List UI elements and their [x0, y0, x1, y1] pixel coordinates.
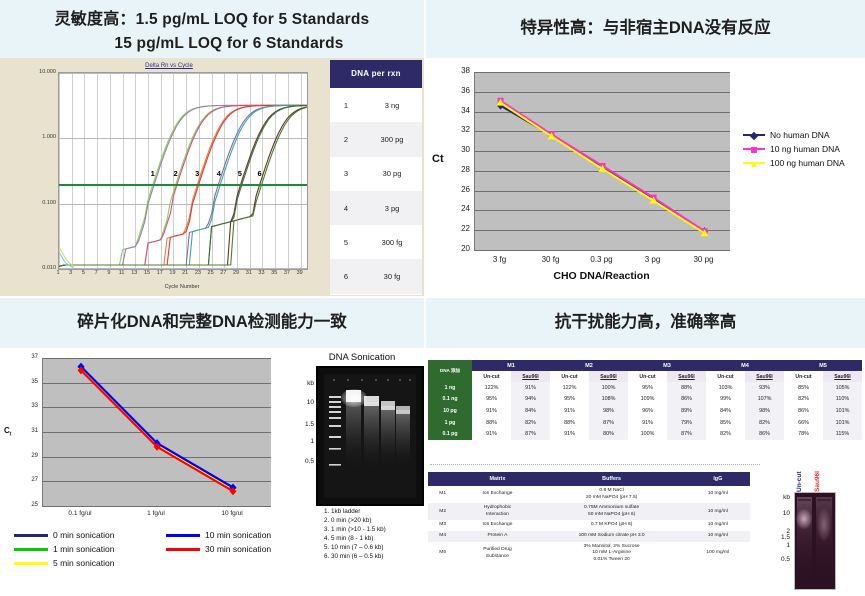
dna-table-row: 13 ng [330, 88, 422, 122]
amplification-x-tick: 35 [269, 270, 279, 276]
amplification-plot-title: Delta Rn vs Cycle [14, 63, 324, 69]
specificity-y-tick: 22 [448, 224, 470, 233]
recovery-table-row: 1 pg88%82%88%87%91%79%85%82%66%101% [428, 417, 862, 429]
recovery-table: DNA 添加M1M2M3M4M5Un-cutSau96IUn-cutSau96I… [428, 360, 862, 440]
dna-per-rxn-table: DNA per rxn 13 ng2300 pg330 pg43 pg5300 … [330, 60, 422, 295]
gel-lane-label: Sau96I [814, 462, 821, 492]
recovery-table-row: 0.1 ng95%94%95%108%109%86%99%107%82%110% [428, 394, 862, 406]
specificity-gridline [475, 250, 730, 251]
matrix-igg-cell: 10 mg/ml [686, 503, 750, 520]
recovery-cell: 91% [472, 428, 511, 440]
recovery-sub-header: Un-cut [784, 371, 823, 382]
interference-heading: 抗干扰能力高，准确率高 [555, 311, 737, 335]
amplification-curve-number: 6 [257, 169, 261, 178]
recovery-matrix-header: M2 [550, 360, 628, 371]
legend-item: 30 min sonication [166, 544, 316, 554]
dna-table-row: 2300 pg [330, 122, 422, 156]
recovery-cell: 105% [823, 382, 862, 394]
dna-table-header: DNA per rxn [330, 60, 422, 88]
recovery-cell: 95% [628, 382, 667, 394]
specificity-legend: No human DNA10 ng human DNA100 ng human … [743, 130, 845, 172]
digest-gel-panel: Un-cutSau96I kb1021.510.5 [770, 462, 862, 592]
specificity-x-tick: 30 fg [525, 255, 577, 264]
fragmentation-series-line [81, 369, 233, 490]
legend-swatch [14, 548, 48, 551]
matrix-name-cell: Purified DrugSubstance [457, 542, 537, 566]
dna-row-value: 3 pg [362, 204, 422, 213]
gel-kb-label: 1 [772, 542, 790, 549]
legend-item: 10 min sonication [166, 530, 316, 540]
recovery-cell: 103% [706, 382, 745, 394]
recovery-cell: 91% [511, 382, 550, 394]
dna-table-row: 330 pg [330, 157, 422, 191]
recovery-sub-header: Un-cut [472, 371, 511, 382]
recovery-cell: 101% [823, 417, 862, 429]
amplification-plot-area [58, 72, 308, 270]
fragmentation-heading: 碎片化DNA和完整DNA检测能力一致 [77, 311, 347, 335]
amplification-x-tick: 1 [53, 270, 63, 276]
amplification-x-tick: 31 [244, 270, 254, 276]
matrix-name-cell: Ion Exchange [457, 520, 537, 531]
specificity-y-tick: 30 [448, 145, 470, 154]
recovery-sub-header: Sau96I [589, 371, 628, 382]
recovery-cell: 98% [589, 405, 628, 417]
recovery-cell: 80% [589, 428, 628, 440]
amplification-curves [59, 73, 307, 269]
legend-item: 100 ng human DNA [743, 158, 845, 168]
recovery-cell: 87% [667, 428, 706, 440]
specificity-series-layer [475, 72, 730, 250]
matrix-header-cell: IgG [686, 472, 750, 486]
dna-row-value: 300 fg [362, 238, 422, 247]
amplification-curve [59, 107, 307, 266]
amplification-curve [59, 107, 307, 266]
recovery-cell: 95% [550, 394, 589, 406]
matrix-id-cell: M3 [428, 520, 457, 531]
recovery-cell: 99% [706, 394, 745, 406]
dna-table-row: 43 pg [330, 191, 422, 225]
amplification-x-tick: 37 [282, 270, 292, 276]
recovery-sub-header: Sau96I [511, 371, 550, 382]
dna-table-body: 13 ng2300 pg330 pg43 pg5300 fg630 fg [330, 88, 422, 294]
recovery-sub-header: Sau96I [823, 371, 862, 382]
recovery-cell: 86% [784, 405, 823, 417]
dna-row-index: 3 [330, 169, 362, 178]
sonication-gel-title: DNA Sonication [300, 352, 424, 363]
amplification-x-tick: 5 [78, 270, 88, 276]
recovery-cell: 100% [589, 382, 628, 394]
fragmentation-legend-column: 10 min sonication30 min sonication [166, 530, 316, 558]
specificity-y-tick: 38 [448, 66, 470, 75]
amplification-y-tick: 0.010 [16, 265, 56, 271]
recovery-subheader-row: Un-cutSau96IUn-cutSau96IUn-cutSau96IUn-c… [428, 371, 862, 382]
digest-gel-svg [795, 493, 835, 589]
fragmentation-legend-column: 0 min sonication1 min sonication5 min so… [14, 530, 164, 572]
legend-item: No human DNA [743, 130, 845, 140]
matrix-name-cell: Ion Exchange [457, 486, 537, 503]
legend-label: 5 min sonication [53, 558, 114, 568]
recovery-cell: 122% [472, 382, 511, 394]
specificity-y-tick: 28 [448, 165, 470, 174]
matrix-igg-cell: 10 mg/ml [686, 520, 750, 531]
matrix-id-cell: M5 [428, 542, 457, 566]
specificity-x-tick: 3 fg [474, 255, 526, 264]
gel-kb-label: 10 [772, 510, 790, 517]
recovery-cell: 82% [784, 394, 823, 406]
matrix-header-cell: Buffers [538, 472, 686, 486]
amplification-curve-number: 1 [151, 169, 155, 178]
recovery-sub-header: Sau96I [667, 371, 706, 382]
specificity-y-tick: 20 [448, 244, 470, 253]
dna-table-row: 630 fg [330, 259, 422, 293]
legend-item: 10 ng human DNA [743, 144, 845, 154]
fragmentation-series-line [81, 368, 233, 489]
recovery-cell: 91% [472, 405, 511, 417]
panel-sensitivity: 灵敏度高：1.5 pg/mL LOQ for 5 Standards 15 pg… [0, 0, 424, 296]
amplification-x-tick: 25 [206, 270, 216, 276]
matrix-buffer-cell: 0.75M Ammonium sulfate50 mM NaPO4 (pH 6) [538, 503, 686, 520]
recovery-table-row: 0.1 pg91%87%91%80%100%87%82%86%78%115% [428, 428, 862, 440]
fragmentation-x-tick: 10 fg/ul [204, 510, 260, 517]
dna-row-index: 1 [330, 101, 362, 110]
amplification-curve-number: 2 [174, 169, 178, 178]
sonication-gel-image [316, 366, 424, 506]
recovery-corner-cell: DNA 添加 [428, 360, 472, 382]
legend-label: 0 min sonication [53, 530, 114, 540]
recovery-cell: 109% [628, 394, 667, 406]
fragmentation-gridline [43, 506, 271, 507]
gel-caption-line: 5. 10 min (7 – 0.6 kb) [324, 544, 424, 553]
dna-row-index: 2 [330, 135, 362, 144]
recovery-cell: 88% [550, 417, 589, 429]
recovery-row-label: 0.1 pg [428, 428, 472, 440]
sonication-gel-svg [318, 368, 422, 504]
matrix-table-row: M4Protein A100 mM Sodium citrate pH 3.01… [428, 531, 750, 542]
legend-item: 0 min sonication [14, 530, 164, 540]
recovery-table-row: 1 ng122%91%122%100%95%88%103%93%85%105% [428, 382, 862, 394]
sonication-gel-panel: DNA Sonication [300, 350, 424, 596]
recovery-row-label: 1 ng [428, 382, 472, 394]
recovery-cell: 86% [745, 428, 784, 440]
recovery-cell: 87% [589, 417, 628, 429]
amplification-x-tick: 39 [295, 270, 305, 276]
recovery-cell: 95% [472, 394, 511, 406]
matrix-buffer-cell: 100 mM Sodium citrate pH 3.0 [538, 531, 686, 542]
fragmentation-y-tick: 33 [20, 403, 38, 409]
dna-row-value: 300 pg [362, 135, 422, 144]
gel-kb-label: kb [300, 380, 314, 387]
recovery-cell: 85% [784, 382, 823, 394]
fragmentation-x-tick: 1 fg/ul [128, 510, 184, 517]
legend-marker [750, 132, 758, 140]
recovery-cell: 82% [706, 428, 745, 440]
matrix-id-cell: M2 [428, 503, 457, 520]
section-divider [430, 464, 760, 466]
fragmentation-y-tick: 27 [20, 477, 38, 483]
gel-caption-line: 6. 30 min (6 – 0.5 kb) [324, 553, 424, 562]
legend-item: 1 min sonication [14, 544, 164, 554]
matrix-buffer-cell: 0.8 M NaCl20 mM NaPO4 (pH 7.5) [538, 486, 686, 503]
recovery-cell: 100% [628, 428, 667, 440]
amplification-x-tick: 15 [142, 270, 152, 276]
amplification-x-tick: 21 [180, 270, 190, 276]
recovery-cell: 110% [823, 394, 862, 406]
recovery-cell: 91% [628, 417, 667, 429]
sensitivity-loq-6: 15 pg/mL LOQ for 6 Standards [114, 35, 343, 52]
recovery-header-row: DNA 添加M1M2M3M4M5 [428, 360, 862, 371]
specificity-x-axis-label: CHO DNA/Reaction [474, 270, 729, 282]
dna-row-value: 3 ng [362, 101, 422, 110]
specificity-y-axis-label: Ct [432, 153, 444, 165]
recovery-cell: 88% [667, 382, 706, 394]
gel-kb-label: kb [772, 494, 790, 501]
matrix-table-row: M3Ion Exchange0.7 M KPO4 (pH 6)10 mg/ml [428, 520, 750, 531]
matrix-buffer-cell: 0.7 M KPO4 (pH 6) [538, 520, 686, 531]
recovery-row-label: 10 pg [428, 405, 472, 417]
recovery-cell: 84% [706, 405, 745, 417]
recovery-row-label: 0.1 ng [428, 394, 472, 406]
sonication-gel-captions: 1. 1kb ladder2. 0 min (>20 kb)3. 1 min (… [324, 508, 424, 562]
specificity-x-tick: 3 pg [627, 255, 679, 264]
fragmentation-y-tick: 31 [20, 428, 38, 434]
amplification-x-tick: 33 [256, 270, 266, 276]
legend-marker [751, 147, 757, 153]
sensitivity-loq-5: 1.5 pg/mL LOQ for 5 Standards [136, 11, 370, 28]
recovery-cell: 79% [667, 417, 706, 429]
recovery-cell: 108% [589, 394, 628, 406]
gel-kb-label: 1.5 [772, 534, 790, 541]
legend-marker [751, 161, 757, 167]
sensitivity-heading-line2: 15 pg/mL LOQ for 6 Standards [6, 32, 418, 55]
recovery-cell: 101% [823, 405, 862, 417]
fragmentation-plot-area [42, 358, 271, 507]
specificity-chart: 202224262830323436383 fg30 fg0.3 pg3 pg3… [426, 58, 865, 296]
dna-table-row: 5300 fg [330, 225, 422, 259]
matrix-table-row: M1Ion Exchange0.8 M NaCl20 mM NaPO4 (pH … [428, 486, 750, 503]
amplification-curve-number: 3 [195, 169, 199, 178]
recovery-cell: 82% [745, 417, 784, 429]
amplification-x-tick: 3 [66, 270, 76, 276]
recovery-cell: 86% [667, 394, 706, 406]
legend-swatch [14, 534, 48, 537]
recovery-cell: 85% [706, 417, 745, 429]
legend-label: 30 min sonication [205, 544, 271, 554]
recovery-cell: 115% [823, 428, 862, 440]
recovery-cell: 98% [745, 405, 784, 417]
recovery-matrix-header: M4 [706, 360, 784, 371]
recovery-cell: 82% [511, 417, 550, 429]
recovery-row-label: 1 pg [428, 417, 472, 429]
specificity-y-tick: 32 [448, 125, 470, 134]
matrix-table-row: M5Purified DrugSubstance3% Mannitol, 2% … [428, 542, 750, 566]
matrix-buffers-table: MatrixBuffersIgGM1Ion Exchange0.8 M NaCl… [428, 472, 750, 565]
amplification-curve-number: 5 [238, 169, 242, 178]
gel-kb-label: 0.5 [772, 556, 790, 563]
amplification-x-axis-label: Cycle Number [58, 284, 306, 290]
amplification-x-tick: 23 [193, 270, 203, 276]
dna-row-index: 4 [330, 204, 362, 213]
matrix-buffer-cell: 3% Mannitol, 2% Sucrose10 mM L-Arginine0… [538, 542, 686, 566]
matrix-header-cell [428, 472, 457, 486]
gel-caption-line: 3. 1 min (>10 - 1.5 kb) [324, 526, 424, 535]
matrix-id-cell: M1 [428, 486, 457, 503]
amplification-plot-inner: Delta Rn vs Cycle 10.0001.0000.1000.010 … [14, 60, 324, 294]
specificity-plot-area [474, 72, 730, 251]
gel-kb-label: 0.5 [300, 458, 314, 465]
specificity-y-tick: 26 [448, 185, 470, 194]
legend-swatch [743, 162, 765, 164]
amplification-x-tick: 13 [129, 270, 139, 276]
fragmentation-y-axis-label: Ct [4, 426, 11, 438]
matrix-name-cell: Protein A [457, 531, 537, 542]
fragmentation-series-line [81, 368, 233, 489]
sensitivity-heading-cn: 灵敏度高： [55, 11, 136, 28]
amplification-x-tick: 29 [231, 270, 241, 276]
recovery-sub-header: Un-cut [550, 371, 589, 382]
fragmentation-series-layer [43, 358, 271, 506]
specificity-heading: 特异性高：与非宿主DNA没有反应 [520, 17, 770, 41]
fragmentation-chart: 252729313335370.1 fg/ul1 fg/ul10 fg/ulCt [0, 350, 290, 540]
amplification-y-tick: 0.100 [16, 200, 56, 206]
matrix-header-cell: Matrix [457, 472, 537, 486]
legend-item: 5 min sonication [14, 558, 164, 568]
matrix-igg-cell: 100 mg/ml [686, 542, 750, 566]
amplification-threshold-line [59, 184, 307, 186]
amplification-curve-number: 4 [217, 169, 221, 178]
dna-row-value: 30 pg [362, 169, 422, 178]
recovery-cell: 88% [472, 417, 511, 429]
matrix-igg-cell: 10 mg/ml [686, 486, 750, 503]
recovery-cell: 78% [784, 428, 823, 440]
specificity-x-tick: 0.3 pg [576, 255, 628, 264]
amplification-x-tick: 9 [104, 270, 114, 276]
amplification-y-tick: 1.000 [16, 134, 56, 140]
gel-caption-line: 2. 0 min (>20 kb) [324, 517, 424, 526]
legend-swatch [166, 548, 200, 551]
recovery-sub-header: Un-cut [628, 371, 667, 382]
legend-swatch [166, 534, 200, 537]
fragmentation-y-tick: 25 [20, 502, 38, 508]
recovery-cell: 89% [667, 405, 706, 417]
matrix-header-row: MatrixBuffersIgG [428, 472, 750, 486]
dna-row-index: 6 [330, 272, 362, 281]
panel-fragmentation: 碎片化DNA和完整DNA检测能力一致 252729313335370.1 fg/… [0, 298, 424, 596]
matrix-name-cell: HydrophobicInteraction [457, 503, 537, 520]
amplification-x-tick: 11 [117, 270, 127, 276]
gel-caption-line: 1. 1kb ladder [324, 508, 424, 517]
slide-canvas: 灵敏度高：1.5 pg/mL LOQ for 5 Standards 15 pg… [0, 0, 865, 596]
recovery-matrix-header: M1 [472, 360, 550, 371]
gel-caption-line: 4. 5 min (8 - 1 kb) [324, 535, 424, 544]
digest-gel-image [794, 492, 836, 590]
amplification-x-tick: 27 [218, 270, 228, 276]
recovery-table-row: 10 pg91%84%91%98%96%89%84%98%86%101% [428, 405, 862, 417]
specificity-y-tick: 34 [448, 106, 470, 115]
fragmentation-banner: 碎片化DNA和完整DNA检测能力一致 [0, 298, 424, 348]
sensitivity-heading-line1: 灵敏度高：1.5 pg/mL LOQ for 5 Standards [6, 8, 418, 32]
amplification-x-tick: 19 [167, 270, 177, 276]
recovery-cell: 66% [784, 417, 823, 429]
matrix-table-row: M2HydrophobicInteraction0.75M Ammonium s… [428, 503, 750, 520]
matrix-igg-cell: 10 mg/ml [686, 531, 750, 542]
specificity-y-tick: 24 [448, 204, 470, 213]
recovery-cell: 84% [511, 405, 550, 417]
recovery-cell: 107% [745, 394, 784, 406]
specificity-y-tick: 36 [448, 86, 470, 95]
amplification-x-tick: 7 [91, 270, 101, 276]
legend-swatch [743, 148, 765, 150]
amplification-x-tick: 17 [155, 270, 165, 276]
fragmentation-y-tick: 29 [20, 453, 38, 459]
fragmentation-y-tick: 37 [20, 354, 38, 360]
amplification-y-tick: 10.000 [16, 69, 56, 75]
interference-banner: 抗干扰能力高，准确率高 [426, 298, 865, 348]
sensitivity-banner: 灵敏度高：1.5 pg/mL LOQ for 5 Standards 15 pg… [0, 0, 424, 58]
specificity-x-tick: 30 pg [678, 255, 730, 264]
recovery-sub-header: Sau96I [745, 371, 784, 382]
legend-label: 10 min sonication [205, 530, 271, 540]
fragmentation-y-tick: 35 [20, 379, 38, 385]
recovery-matrix-header: M5 [784, 360, 862, 371]
legend-label: 100 ng human DNA [770, 158, 845, 168]
recovery-cell: 122% [550, 382, 589, 394]
gel-lane-label: Un-cut [796, 462, 803, 492]
legend-label: No human DNA [770, 130, 830, 140]
gel-kb-label: 1.5 [300, 421, 314, 428]
recovery-cell: 91% [550, 428, 589, 440]
gel-kb-label: 10 [300, 399, 314, 406]
dna-row-value: 30 fg [362, 272, 422, 281]
recovery-cell: 96% [628, 405, 667, 417]
recovery-sub-header: Un-cut [706, 371, 745, 382]
dna-row-index: 5 [330, 238, 362, 247]
matrix-id-cell: M4 [428, 531, 457, 542]
legend-label: 10 ng human DNA [770, 144, 840, 154]
recovery-cell: 93% [745, 382, 784, 394]
fragmentation-series-line [81, 367, 233, 488]
legend-swatch [14, 562, 48, 565]
fragmentation-x-tick: 0.1 fg/ul [52, 510, 108, 517]
recovery-cell: 91% [550, 405, 589, 417]
recovery-cell: 94% [511, 394, 550, 406]
gel-kb-label: 1 [300, 438, 314, 445]
panel-specificity: 特异性高：与非宿主DNA没有反应 202224262830323436383 f… [426, 0, 865, 296]
legend-swatch [743, 134, 765, 136]
specificity-banner: 特异性高：与非宿主DNA没有反应 [426, 0, 865, 58]
recovery-cell: 87% [511, 428, 550, 440]
recovery-matrix-header: M3 [628, 360, 706, 371]
legend-label: 1 min sonication [53, 544, 114, 554]
